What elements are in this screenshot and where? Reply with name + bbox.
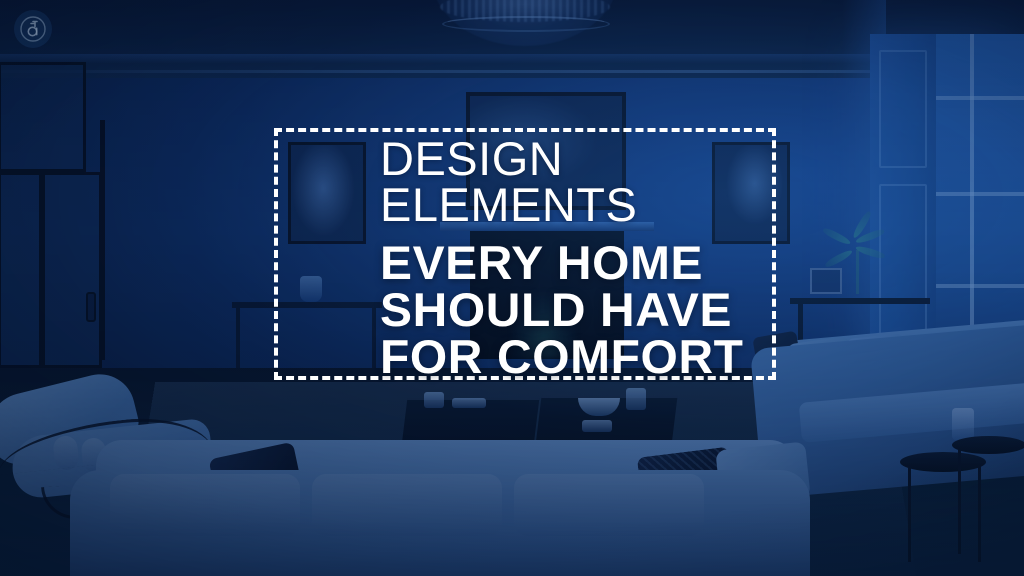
headline-block: DESIGN ELEMENTS EVERY HOME SHOULD HAVE F… — [380, 136, 780, 380]
headline-line-5: FOR COMFORT — [380, 333, 788, 380]
headline-line-3: EVERY HOME — [380, 239, 788, 286]
brand-logo[interactable] — [14, 10, 52, 48]
headline-line-2: ELEMENTS — [380, 182, 780, 228]
header-graphic: DESIGN ELEMENTS EVERY HOME SHOULD HAVE F… — [0, 0, 1024, 576]
headline-line-1: DESIGN — [380, 136, 780, 182]
headline-line-4: SHOULD HAVE — [380, 286, 788, 333]
